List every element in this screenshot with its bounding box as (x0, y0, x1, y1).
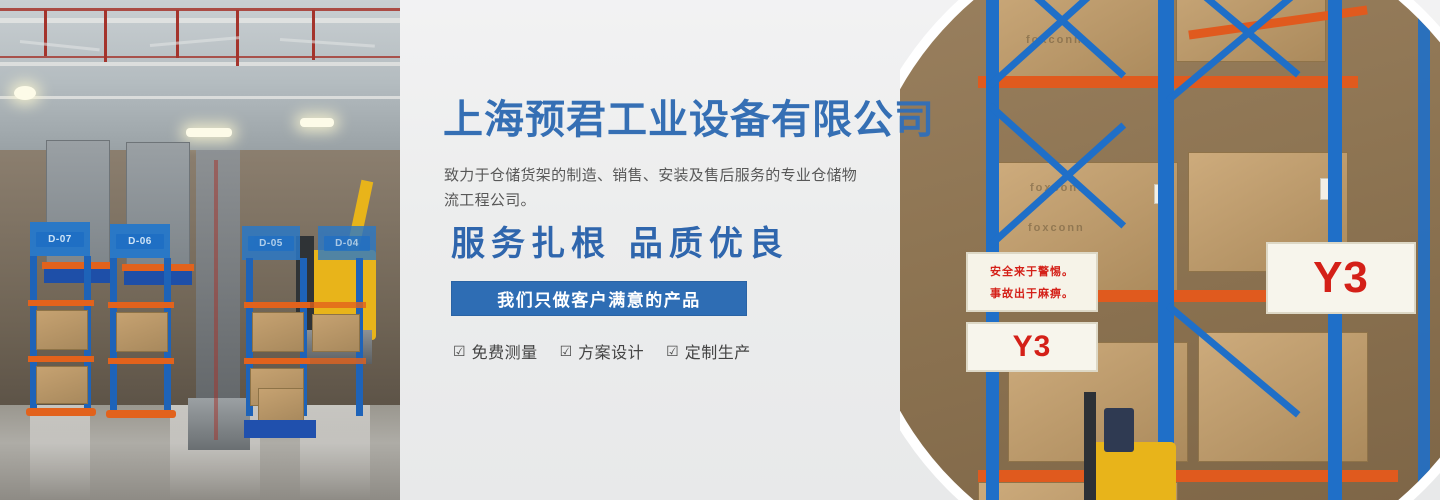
rack-guard (26, 408, 96, 416)
carton (258, 388, 304, 422)
feature-list: ☑ 免费测量 ☑ 方案设计 ☑ 定制生产 (453, 339, 751, 363)
rack-beam (42, 262, 114, 269)
rack-beam (28, 356, 94, 362)
blue-pallet (124, 271, 192, 285)
ceiling-hanger (312, 10, 315, 60)
ceiling-light (300, 118, 334, 127)
carton (252, 312, 304, 352)
carton-brand-text: foxconn (1028, 222, 1085, 234)
carton (36, 366, 88, 404)
floor-reflection (30, 405, 90, 500)
carton (312, 314, 360, 352)
ceiling-hanger (104, 10, 107, 62)
ceiling-pipe (0, 56, 400, 58)
rack-label-d06: D-06 (116, 234, 164, 249)
aisle-marker-code-2: Y3 (1313, 253, 1369, 303)
safety-sign: 安全来于警惕。 事故出于麻痹。 (966, 252, 1098, 312)
rack-guard (106, 410, 176, 418)
ceiling-hanger (44, 10, 47, 56)
ceiling-pipe (0, 8, 400, 11)
blue-pallet (244, 420, 316, 438)
rack-beam (122, 264, 194, 271)
rack-upright (1158, 0, 1174, 500)
left-warehouse-photo: D-07 D-06 D-05 D-04 (0, 0, 400, 500)
stacker-base (188, 398, 250, 450)
check-icon: ☑ (666, 344, 679, 358)
safety-sign-line-1: 安全来于警惕。 (990, 263, 1074, 279)
feature-item-free-measure: ☑ 免费测量 (453, 339, 538, 363)
company-subtitle: 致力于仓储货架的制造、销售、安装及售后服务的专业仓储物流工程公司。 (444, 163, 869, 213)
rack-beam (300, 358, 366, 364)
rack-label-d04: D-04 (324, 236, 370, 251)
rack-beam (28, 300, 94, 306)
cta-button-label: 我们只做客户满意的产品 (497, 286, 701, 311)
rack-label-d05: D-05 (248, 236, 294, 251)
feature-label: 方案设计 (578, 339, 644, 363)
company-slogan: 服务扎根 品质优良 (451, 227, 789, 261)
forklift-operator (1104, 408, 1134, 452)
feature-label: 定制生产 (685, 339, 751, 363)
forklift-mast (1084, 392, 1096, 500)
check-icon: ☑ (560, 344, 573, 358)
aisle-marker-code: Y3 (1013, 330, 1052, 364)
aisle-marker-sign: Y3 (966, 322, 1098, 372)
carton (36, 310, 88, 350)
right-warehouse-photo: foxconn foxconn foxconn foxconn (900, 0, 1440, 500)
feature-label: 免费测量 (472, 339, 538, 363)
hero-copy: 上海预君工业设备有限公司 致力于仓储货架的制造、销售、安装及售后服务的专业仓储物… (443, 0, 913, 500)
carton (116, 312, 168, 352)
rack-beam (108, 302, 174, 308)
aisle-marker-sign-2: Y3 (1266, 242, 1416, 314)
feature-item-custom-production: ☑ 定制生产 (666, 339, 751, 363)
mast-rail (214, 160, 218, 440)
company-headline: 上海预君工业设备有限公司 (443, 100, 935, 140)
rack-beam (300, 302, 366, 308)
check-icon: ☑ (453, 344, 466, 358)
cta-button[interactable]: 我们只做客户满意的产品 (451, 281, 747, 316)
ceiling-beam (0, 62, 400, 66)
safety-sign-line-2: 事故出于麻痹。 (990, 285, 1074, 301)
blue-pallet (44, 269, 112, 283)
ceiling-beam (0, 18, 400, 23)
ceiling-hanger (176, 10, 179, 58)
ceiling-light (14, 86, 36, 100)
rack-label-d07: D-07 (36, 232, 84, 247)
ceiling-light (186, 128, 232, 137)
hero-banner: D-07 D-06 D-05 D-04 (0, 0, 1440, 500)
feature-item-plan-design: ☑ 方案设计 (560, 339, 645, 363)
rack-upright (1418, 0, 1430, 500)
ceiling-beam (0, 96, 400, 99)
rack-beam (108, 358, 174, 364)
right-warehouse-photo-wrap: foxconn foxconn foxconn foxconn (900, 0, 1440, 500)
